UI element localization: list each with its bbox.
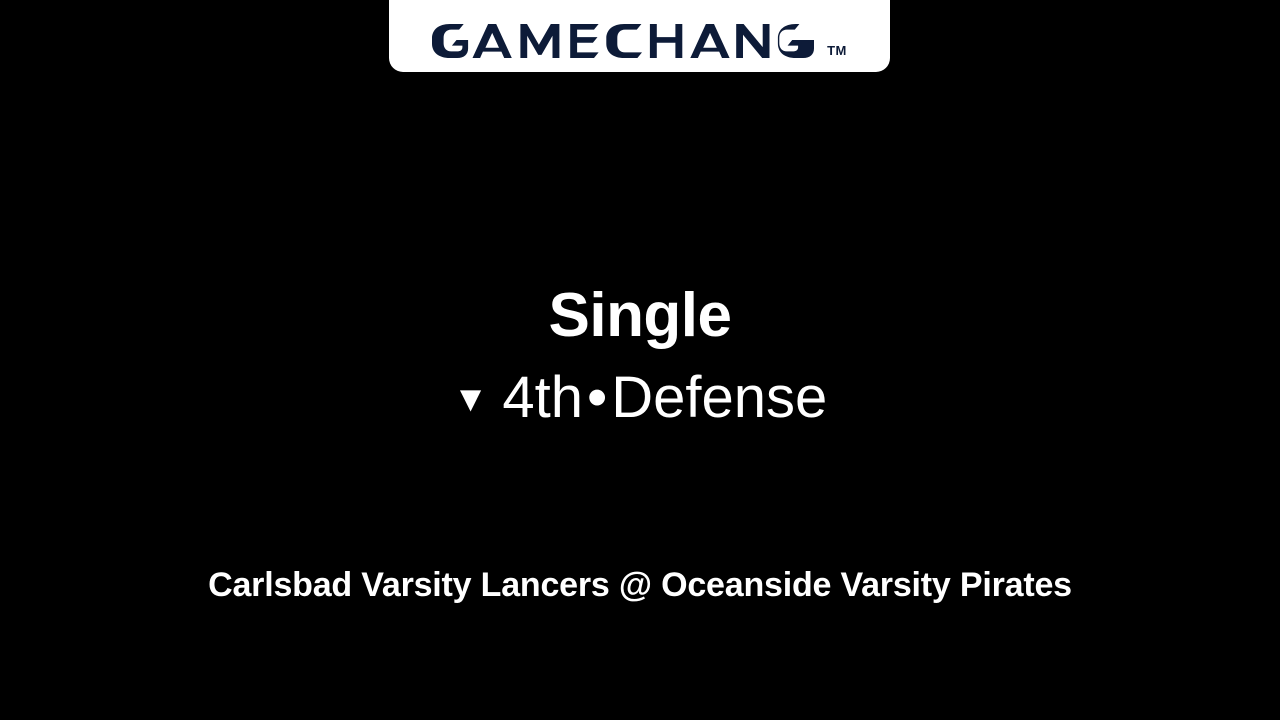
play-result-text: Single: [0, 283, 1280, 348]
matchup-label: Carlsbad Varsity Lancers @ Oceanside Var…: [0, 566, 1280, 605]
half-inning-role-label: Defense: [611, 365, 827, 430]
gamechanger-logo-badge: TM: [389, 0, 890, 72]
play-context-line: ▼4th•Defense: [0, 368, 1280, 429]
triangle-down-icon: ▼: [453, 381, 489, 417]
inning-label: 4th: [502, 365, 583, 430]
gamechanger-wordmark: TM: [432, 24, 847, 58]
gamechanger-wordmark-logo-icon: [432, 24, 824, 58]
trademark-symbol: TM: [827, 44, 847, 57]
play-overlay: Single ▼4th•Defense Carlsbad Varsity Lan…: [0, 0, 1280, 720]
context-separator: •: [587, 368, 607, 429]
